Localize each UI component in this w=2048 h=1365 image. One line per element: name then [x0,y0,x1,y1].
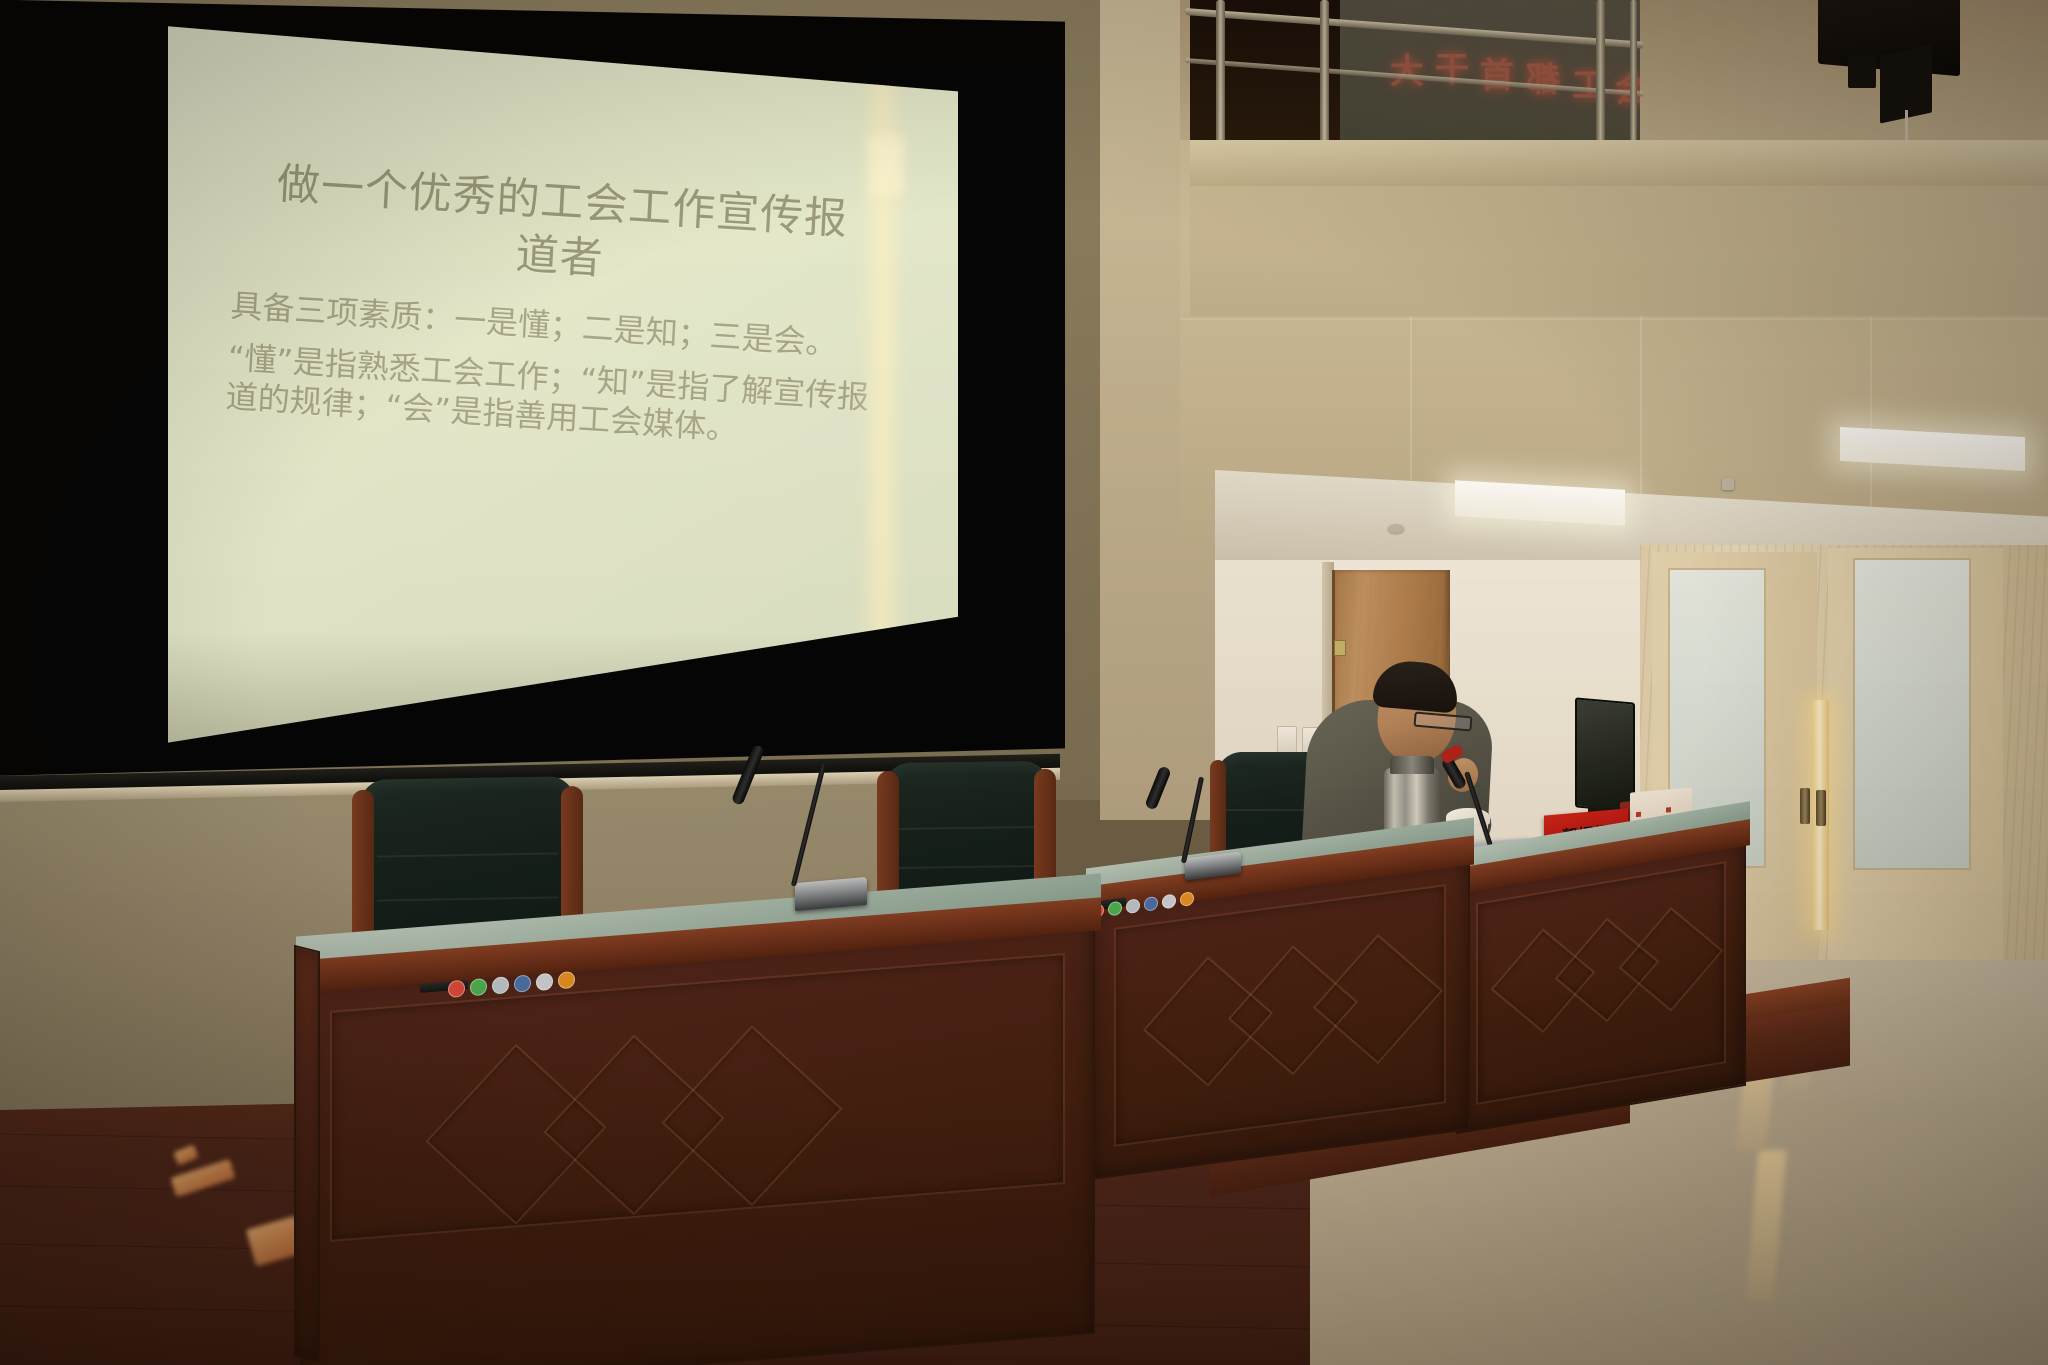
flask-cap[interactable] [1390,756,1434,774]
railing-post [1630,0,1637,150]
badge-grey [1126,898,1140,914]
badge-blue [514,974,531,992]
desk-monitor[interactable] [1575,697,1635,812]
door-handle-right[interactable] [1816,790,1826,826]
badge-silver [1162,894,1176,910]
railing-post [1216,0,1225,150]
table-left-cap [294,945,320,1363]
chair-arm [877,771,899,903]
door-glass-right [1853,558,1971,870]
railing-post [1596,0,1605,150]
railing-post [1320,0,1329,150]
chair-arm [352,790,374,948]
badge-red [448,980,465,998]
badge-orange [1180,891,1194,907]
badge-green [470,978,487,996]
door-lock-plate[interactable] [1334,640,1346,656]
mezzanine-glass-panel [1340,0,1640,140]
conference-room-scene: 大 干 首 都 工 会 职 工 [0,0,2048,1365]
badge-orange [558,971,575,989]
badge-blue [1144,896,1158,912]
speaker-cable [1905,110,1908,140]
light-switch[interactable] [1277,726,1297,754]
door-handle-left[interactable] [1800,788,1810,824]
badge-silver [536,973,553,991]
smoke-detector-icon [1388,524,1404,533]
ceiling-fixture [1722,478,1734,490]
screen-light-hotspot [869,135,903,195]
mezzanine-wall [1190,186,2048,316]
slide-title: 做一个优秀的工会工作宣传报道者 [253,156,870,304]
badge-grey [492,976,509,994]
mezzanine-ledge [1190,140,2048,186]
wall-seam [1180,318,2048,320]
speaker-bracket [1848,56,1876,88]
badge-green [1108,901,1122,917]
